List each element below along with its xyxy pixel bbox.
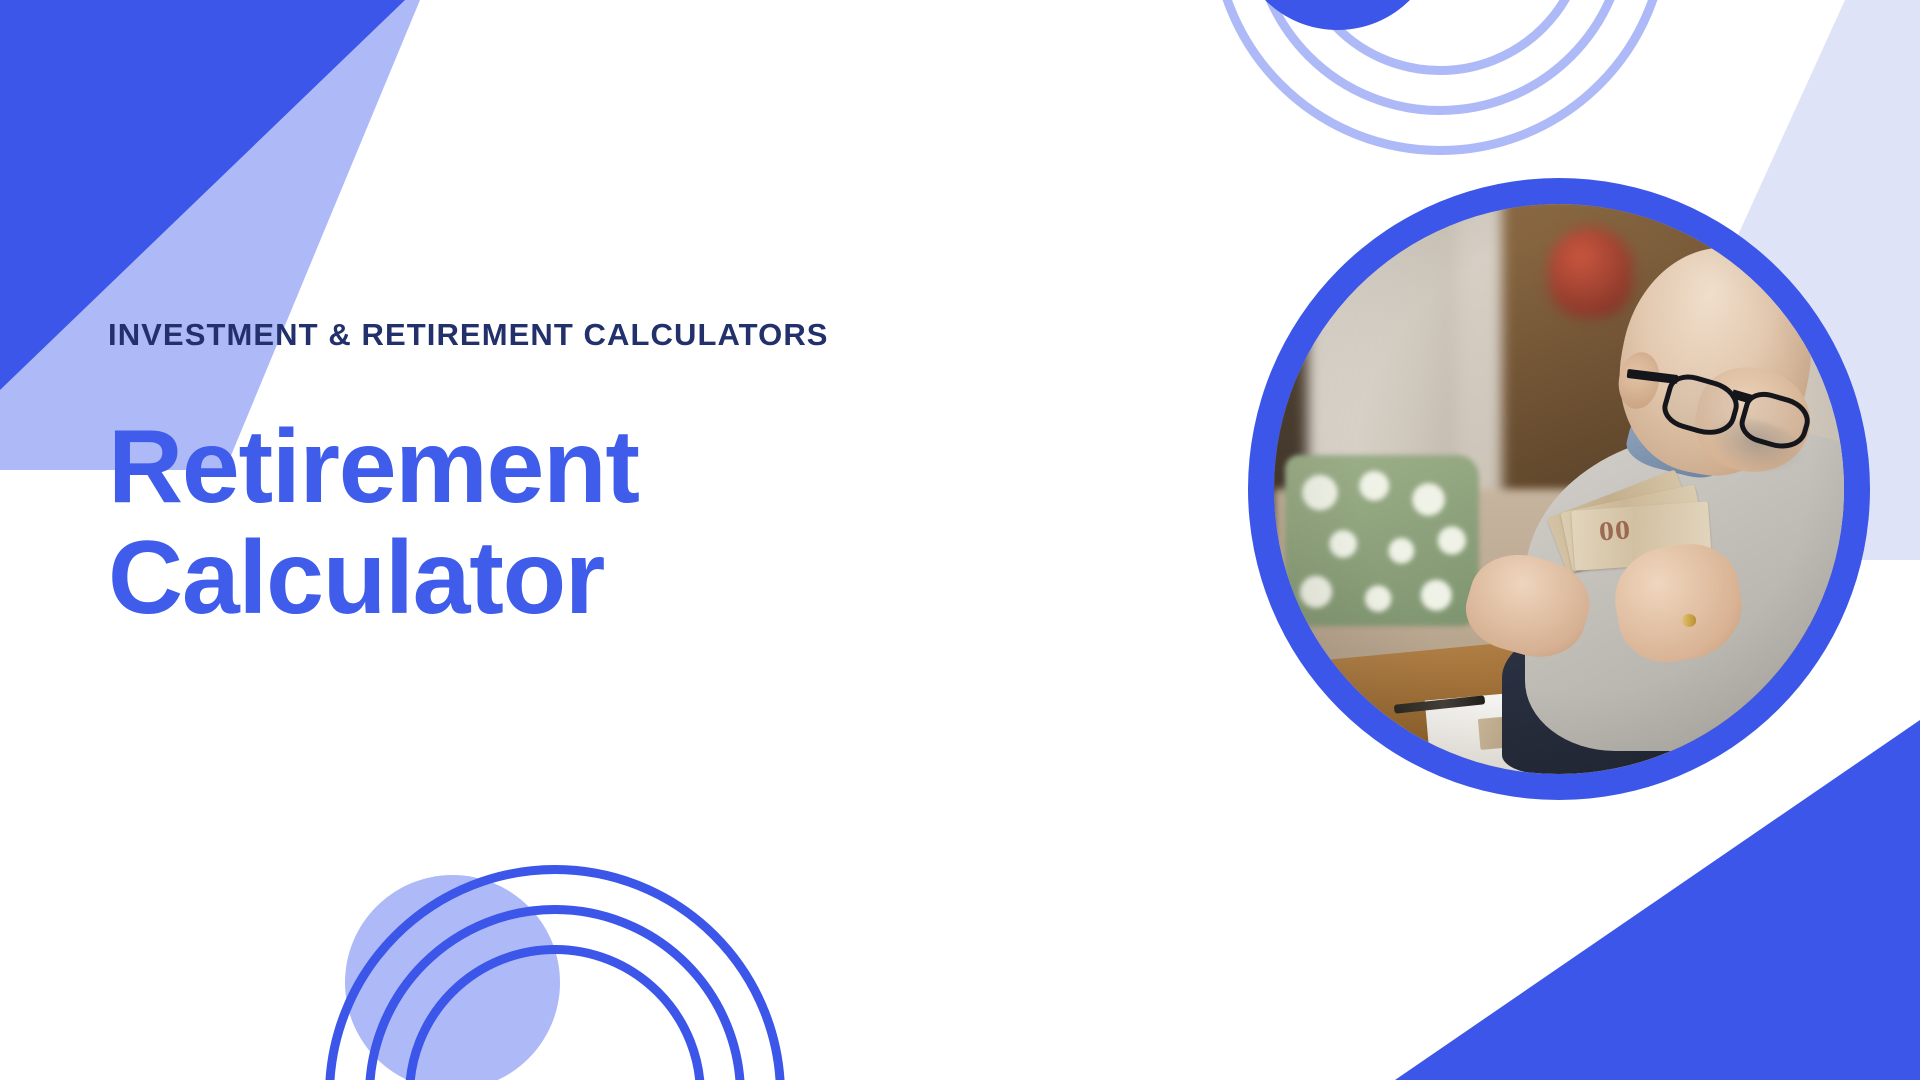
portrait-photo: 00 — [1274, 204, 1844, 774]
headline-block: INVESTMENT & RETIREMENT CALCULATORS Reti… — [108, 318, 1168, 635]
page-title: Retirement Calculator — [108, 412, 1168, 635]
retirement-calculator-banner: INVESTMENT & RETIREMENT CALCULATORS Reti… — [0, 0, 1920, 1080]
photo-vignette — [1274, 204, 1844, 774]
portrait-medallion-ring: 00 — [1248, 178, 1870, 800]
page-title-line-2: Calculator — [108, 523, 1168, 634]
eyebrow-text: INVESTMENT & RETIREMENT CALCULATORS — [108, 318, 1168, 352]
bottom-left-ring-cluster — [345, 835, 775, 1080]
page-title-line-1: Retirement — [108, 412, 1168, 523]
